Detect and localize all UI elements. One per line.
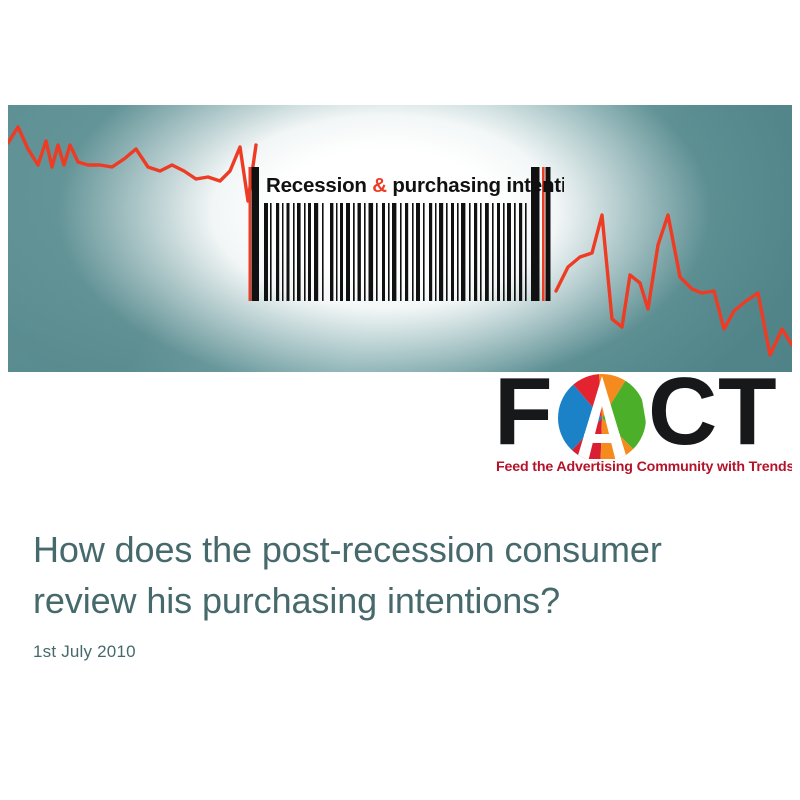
fact-logo: F: [492, 366, 792, 478]
trendline-right: [556, 215, 792, 355]
barcode-graphic: Recession & purchasing intention: [242, 165, 564, 305]
trendline-left: [8, 127, 256, 201]
logo-tagline: Feed the Advertising Community with Tren…: [496, 459, 792, 475]
barcode-caption: Recession & purchasing intention: [266, 174, 564, 197]
page-title: How does the post-recession consumer rev…: [33, 524, 763, 626]
barcode-bars: [264, 203, 527, 301]
logo-letter-c: C: [648, 366, 717, 465]
logo-letter-f: F: [494, 366, 553, 465]
title-block: How does the post-recession consumer rev…: [33, 524, 763, 662]
barcode-guard-left-red: [249, 167, 252, 301]
slide-date: 1st July 2010: [33, 642, 763, 662]
barcode-bar-end-left: [252, 167, 260, 301]
logo-letter-t: T: [718, 366, 777, 465]
hero-banner: Recession & purchasing intention: [8, 105, 792, 372]
